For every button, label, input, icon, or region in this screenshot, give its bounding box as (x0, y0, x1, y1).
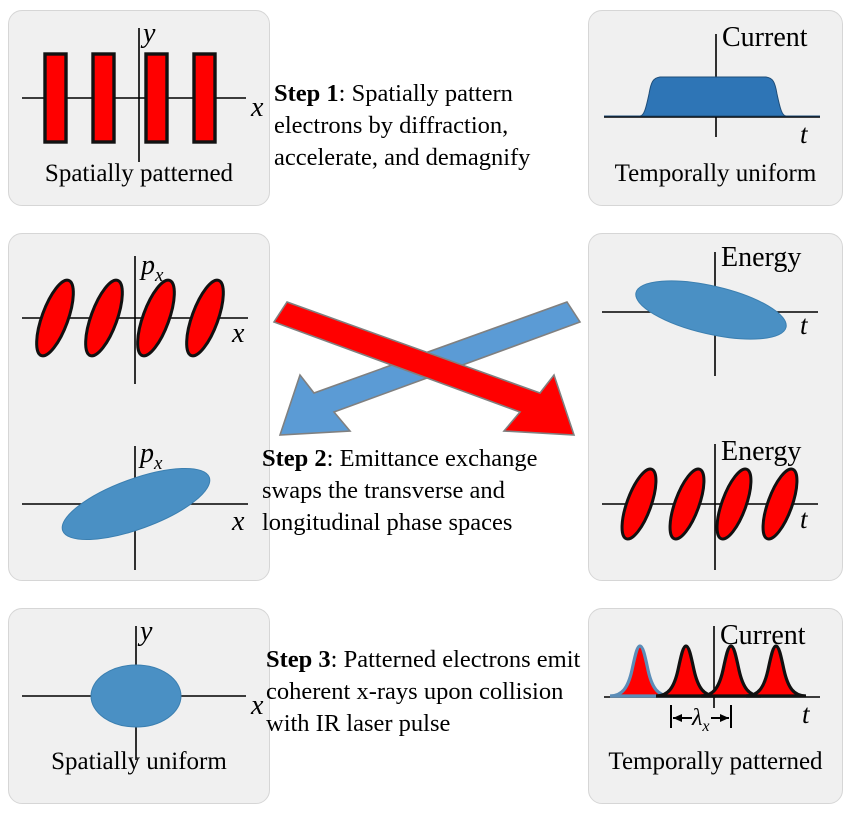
current-pulse (746, 646, 806, 696)
axis-label-x: x (231, 318, 245, 349)
caption-temporally-patterned: Temporally patterned (588, 748, 843, 776)
current-pulse-first (610, 646, 670, 696)
step-2-separator: : (327, 445, 340, 472)
current-pulse (656, 646, 716, 696)
temporally-uniform-plot: Current t (588, 10, 843, 170)
wavelength-label: λx (691, 705, 710, 735)
pattern-bar (146, 54, 167, 142)
wavelength-dimension-marker: λx (671, 705, 731, 735)
dimension-arrowhead-left (673, 714, 682, 722)
step-3-label: Step 3 (266, 646, 331, 673)
step-2-description: Step 2: Emittance exchange swaps the tra… (262, 443, 592, 539)
axis-label-t: t (800, 310, 809, 340)
axis-label-y: y (140, 18, 156, 49)
axis-label-y: y (137, 616, 153, 647)
axis-label-x: x (250, 690, 264, 721)
emittance-exchange-arrows (262, 290, 592, 440)
transverse-phase-space-patterned-plot: px x (8, 236, 270, 411)
beam-ellipse (91, 665, 181, 727)
axis-label-current: Current (722, 22, 808, 53)
pattern-bar (194, 54, 215, 142)
caption-spatially-uniform: Spatially uniform (8, 748, 270, 776)
longitudinal-phase-space-uniform-plot: Energy t (588, 236, 843, 411)
pattern-bar (45, 54, 66, 142)
phase-space-ellipse (631, 269, 792, 350)
axis-label-energy: Energy (721, 242, 801, 273)
axis-label-energy: Energy (721, 436, 801, 467)
axis-label-t: t (800, 504, 809, 534)
axis-label-t: t (800, 119, 809, 149)
step-1-label: Step 1 (274, 80, 339, 107)
axis-label-px: px (138, 438, 163, 474)
spatially-patterned-plot: y x (8, 10, 270, 170)
axis-label-current: Current (720, 620, 806, 651)
step-1-description: Step 1: Spatially pattern electrons by d… (274, 78, 590, 174)
temporally-patterned-plot: λx Current t (588, 608, 843, 748)
step-3-separator: : (331, 646, 344, 673)
axis-label-t: t (802, 699, 811, 729)
step-1-separator: : (339, 80, 352, 107)
step-2-label: Step 2 (262, 445, 327, 472)
longitudinal-phase-space-patterned-plot: Energy t (588, 418, 843, 578)
dimension-arrowhead-right (720, 714, 729, 722)
axis-label-px: px (139, 250, 164, 286)
spatially-uniform-plot: y x (8, 608, 270, 768)
caption-temporally-uniform: Temporally uniform (588, 160, 843, 188)
pattern-bar (93, 54, 114, 142)
current-profile-shape (604, 77, 820, 116)
current-pulse (701, 646, 761, 696)
step-3-description: Step 3: Patterned electrons emit coheren… (266, 644, 592, 740)
axis-label-x: x (231, 506, 245, 537)
axis-label-x: x (250, 92, 264, 123)
caption-spatially-patterned: Spatially patterned (8, 160, 270, 188)
transverse-phase-space-uniform-plot: px x (8, 418, 270, 578)
